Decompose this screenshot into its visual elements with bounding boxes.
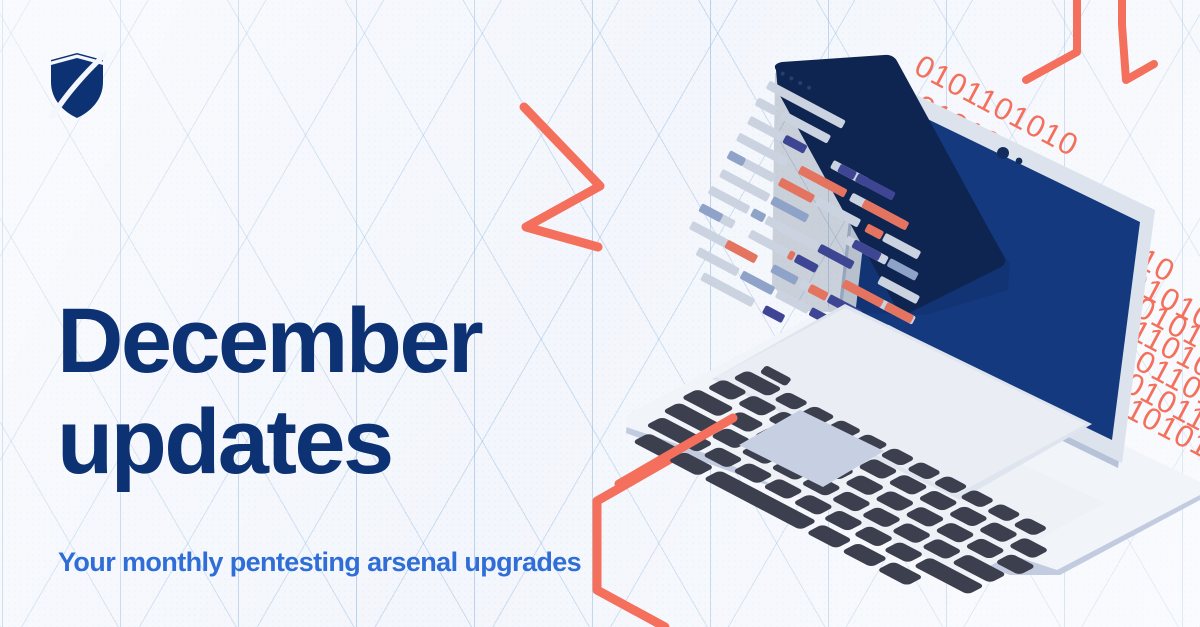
promo-banner: December updates Your monthly pentesting…: [0, 0, 1200, 627]
zigzag-left-icon: [524, 107, 600, 247]
hero-illustration: 0101101010 010101101010 01010110101010 0…: [0, 0, 1200, 627]
zigzag-top-right-icon: [1026, 0, 1154, 80]
